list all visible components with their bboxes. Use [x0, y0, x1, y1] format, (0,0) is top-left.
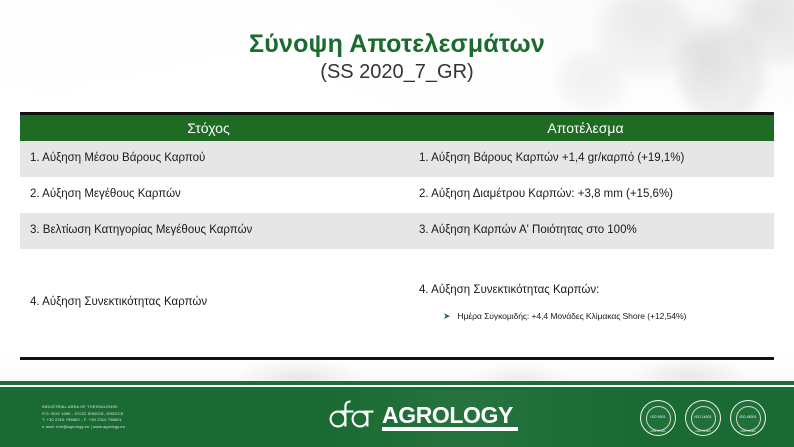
- page-subtitle: (SS 2020_7_GR): [0, 61, 794, 84]
- table-row: 4. Αύξηση Συνεκτικότητας Καρπών 4. Αύξησ…: [20, 249, 774, 357]
- dfa-monogram-icon: [327, 399, 379, 431]
- badge-label: ISO 45001: [736, 406, 761, 431]
- badge-label: ISO 14001: [691, 406, 716, 431]
- table-header-row: Στόχος Αποτέλεσμα: [20, 115, 774, 141]
- page-title: Σύνοψη Αποτελεσμάτων: [0, 30, 794, 59]
- cell-result-heading: 4. Αύξηση Συνεκτικότητας Καρπών:: [419, 283, 764, 299]
- address-line: T: +30 2310 798600 - F: +30 2310 798601: [42, 417, 125, 424]
- table-row: 2. Αύξηση Μεγέθους Καρπών 2. Αύξηση Διαμ…: [20, 177, 774, 213]
- cell-goal: 3. Βελτίωση Κατηγορίας Μεγέθους Καρπών: [20, 223, 395, 239]
- cell-result: 2. Αύξηση Διαμέτρου Καρπών: +3,8 mm (+15…: [395, 187, 774, 203]
- results-table: Στόχος Αποτέλεσμα 1. Αύξηση Μέσου Βάρους…: [20, 112, 774, 360]
- table-row: 1. Αύξηση Μέσου Βάρους Καρπού 1. Αύξηση …: [20, 141, 774, 177]
- certification-badge-icon: ISO 14001 CERTIFIED: [685, 400, 721, 436]
- slide: Σύνοψη Αποτελεσμάτων (SS 2020_7_GR) Στόχ…: [0, 0, 794, 447]
- cell-result: 3. Αύξηση Καρπών Α' Ποιότητας στο 100%: [395, 223, 774, 239]
- agrology-logo: AGROLOGY: [327, 399, 513, 431]
- company-address: INDUSTRIAL AREA OF THESSALONIKI P.O. BOX…: [42, 404, 125, 431]
- column-header-goal: Στόχος: [20, 120, 397, 136]
- list-item: ➤ Ημέρα Συγκομιδής: +4,4 Μονάδες Κλίμακα…: [419, 311, 764, 323]
- list-item-label: Ημέρα Συγκομιδής: +4,4 Μονάδες Κλίμακας …: [457, 311, 686, 323]
- certification-badge-icon: ISO 45001 CERTIFIED: [730, 400, 766, 436]
- address-line: P.O. BOX 1089 - 57022 SINDOS, GREECE: [42, 411, 125, 418]
- table-row: 3. Βελτίωση Κατηγορίας Μεγέθους Καρπών 3…: [20, 213, 774, 249]
- address-line: e-mail: info@agrology.eu | www.agrology.…: [42, 424, 125, 431]
- title-block: Σύνοψη Αποτελεσμάτων (SS 2020_7_GR): [0, 30, 794, 84]
- badge-label: ISO 9001: [646, 406, 671, 431]
- certification-badge-icon: ISO 9001 CERTIFIED: [640, 400, 676, 436]
- cell-result: 1. Αύξηση Βάρους Καρπών +1,4 gr/καρπό (+…: [395, 151, 774, 167]
- column-header-result: Αποτέλεσμα: [397, 120, 774, 136]
- badge-sublabel: CERTIFIED: [641, 430, 675, 433]
- address-line: INDUSTRIAL AREA OF THESSALONIKI: [42, 404, 125, 411]
- cell-goal: 1. Αύξηση Μέσου Βάρους Καρπού: [20, 151, 395, 167]
- footer-divider: [0, 381, 794, 390]
- logo-wordmark: AGROLOGY: [382, 404, 513, 427]
- cell-result: 4. Αύξηση Συνεκτικότητας Καρπών: ➤ Ημέρα…: [395, 283, 774, 322]
- arrow-bullet-icon: ➤: [443, 311, 450, 322]
- certification-badges: ISO 9001 CERTIFIED ISO 14001 CERTIFIED I…: [640, 400, 766, 436]
- logo-underline: [382, 427, 518, 431]
- badge-sublabel: CERTIFIED: [731, 430, 765, 433]
- badge-sublabel: CERTIFIED: [686, 430, 720, 433]
- cell-goal: 4. Αύξηση Συνεκτικότητας Καρπών: [20, 295, 395, 311]
- cell-goal: 2. Αύξηση Μεγέθους Καρπών: [20, 187, 395, 203]
